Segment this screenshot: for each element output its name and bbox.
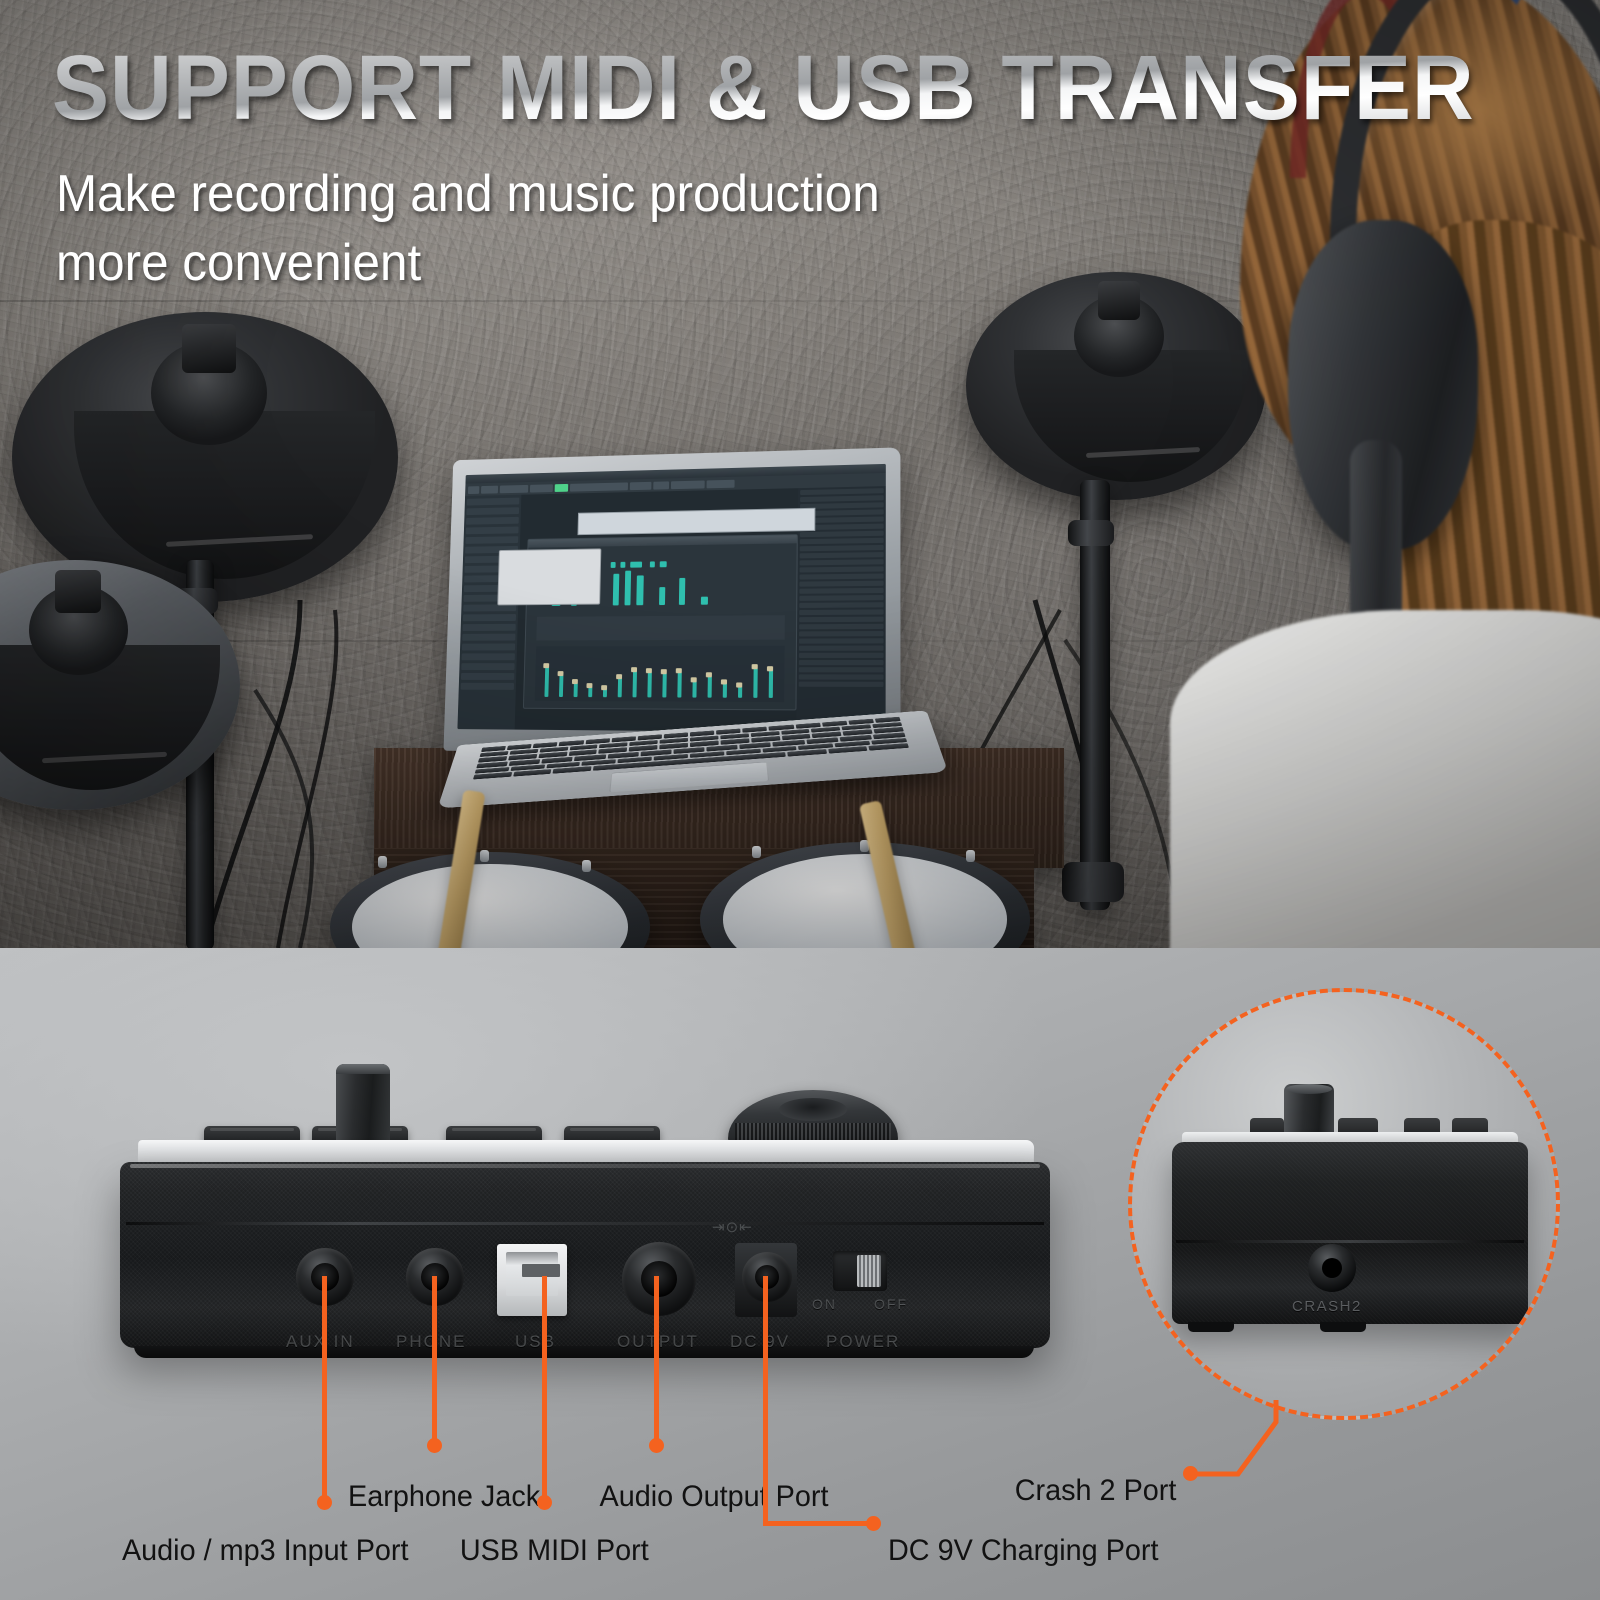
callout-line-usb-midi (542, 1276, 547, 1502)
callout-label-aux-in: Audio / mp3 Input Port (122, 1534, 409, 1568)
silk-power-on: ON (812, 1296, 837, 1312)
silk-dc-9v: DC 9V (730, 1332, 790, 1352)
silk-aux-in: AUX IN (286, 1332, 355, 1352)
callout-dot-audio-out (649, 1438, 664, 1453)
callout-label-dc-9v: DC 9V Charging Port (888, 1534, 1159, 1568)
product-feature-image: SUPPORT MIDI & USB TRANSFER Make recordi… (0, 0, 1600, 1600)
module-seam (126, 1222, 1044, 1225)
usb-port-inner (506, 1252, 558, 1296)
inset-module-body (1172, 1142, 1528, 1324)
inset-foot-right (1320, 1322, 1366, 1332)
callout-line-dc-9v-vertical (763, 1276, 768, 1526)
audio-output-jack[interactable] (622, 1242, 696, 1316)
silk-crash2: CRASH2 (1292, 1298, 1362, 1315)
inset-foot-left (1188, 1322, 1234, 1332)
jack-hole (1322, 1258, 1342, 1278)
dc-polarity-icon: ⇥⊙⇤ (712, 1218, 753, 1236)
callout-dot-dc-9v (866, 1516, 881, 1531)
silk-usb: USB (515, 1332, 556, 1352)
subtitle: Make recording and music production more… (56, 160, 1054, 297)
callout-line-aux-in (322, 1276, 327, 1508)
silk-power-off: OFF (874, 1296, 908, 1312)
callout-label-earphone: Earphone Jack (348, 1480, 540, 1514)
callout-line-audio-out (654, 1276, 659, 1446)
power-switch[interactable] (833, 1251, 887, 1291)
crash2-detail-inset: CRASH2 (1128, 988, 1560, 1420)
callout-label-audio-out: Audio Output Port (600, 1480, 829, 1514)
callout-dot-earphone (427, 1438, 442, 1453)
callout-line-dc-9v-horizontal (763, 1521, 873, 1526)
usb-port-tab (522, 1264, 560, 1277)
callout-dot-usb-midi (537, 1495, 552, 1510)
usb-b-port[interactable] (497, 1244, 567, 1316)
callout-label-usb-midi: USB MIDI Port (460, 1534, 649, 1568)
module-body (120, 1162, 1050, 1348)
callout-line-earphone (432, 1276, 437, 1448)
subtitle-line-2: more convenient (56, 229, 1054, 298)
inset-module-seam (1176, 1240, 1524, 1243)
page-title: SUPPORT MIDI & USB TRANSFER (52, 42, 1475, 134)
subtitle-line-1: Make recording and music production (56, 160, 1054, 229)
power-switch-slider[interactable] (857, 1255, 881, 1287)
vignette (0, 0, 1600, 948)
callout-dot-aux-in (317, 1495, 332, 1510)
callout-label-crash-2: Crash 2 Port (1015, 1474, 1177, 1508)
crash2-jack[interactable] (1308, 1244, 1356, 1292)
lifestyle-photo-panel: SUPPORT MIDI & USB TRANSFER Make recordi… (0, 0, 1600, 948)
drum-module-rear-view (120, 1078, 1050, 1368)
module-top-highlight (130, 1164, 1040, 1168)
silk-power: POWER (826, 1332, 900, 1352)
callout-line-crash-2 (1180, 1400, 1400, 1520)
